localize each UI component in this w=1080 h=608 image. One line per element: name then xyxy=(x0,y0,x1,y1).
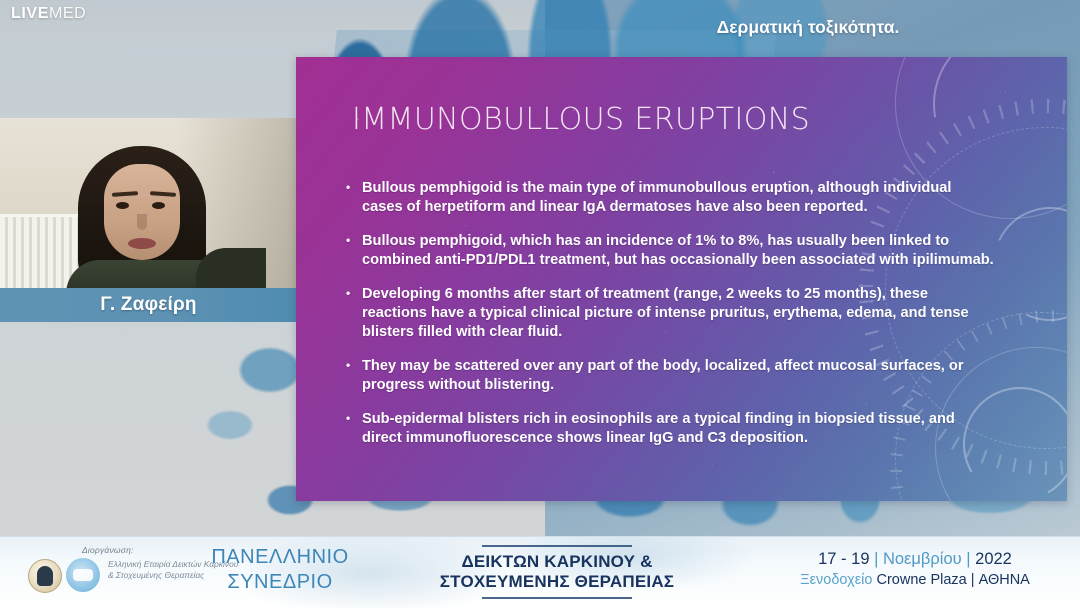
date-days: 17 - 19 xyxy=(818,550,874,568)
presentation-slide[interactable]: IMMUNOBULLOUS ERUPTIONS • Bullous pemphi… xyxy=(296,57,1067,501)
radiator-object xyxy=(0,214,78,290)
university-seal-logo xyxy=(28,559,62,593)
date-separator-1: | xyxy=(874,550,883,568)
list-item: • Bullous pemphigoid, which has an incid… xyxy=(346,232,996,271)
organizer-label: Διοργάνωση: xyxy=(82,545,134,555)
venue-name: Crowne Plaza xyxy=(876,572,970,588)
congress-topic-block: ΔΕΙΚΤΩΝ ΚΑΡΚΙΝΟΥ & ΣΤΟΧΕΥΜΕΝΗΣ ΘΕΡΑΠΕΙΑΣ xyxy=(392,545,722,599)
congress-label-line1: ΠΑΝΕΛΛΗΝΙΟ xyxy=(200,545,360,570)
date-month: Νοεμβρίου xyxy=(883,550,966,568)
livemed-logo-light: MED xyxy=(49,5,86,22)
session-title: Δερματική τοξικότητα. xyxy=(548,17,1068,38)
speaker-nose xyxy=(137,214,147,230)
bullet-text: Bullous pemphigoid is the main type of i… xyxy=(362,179,996,218)
venue-city: ΑΘΗΝΑ xyxy=(979,572,1030,588)
slide-title: IMMUNOBULLOUS ERUPTIONS xyxy=(352,102,810,137)
congress-topic-line1: ΔΕΙΚΤΩΝ ΚΑΡΚΙΝΟΥ & xyxy=(392,552,722,572)
bullet-marker-icon: • xyxy=(346,232,362,271)
bullet-marker-icon: • xyxy=(346,285,362,343)
bullet-marker-icon: • xyxy=(346,179,362,218)
speaker-shoulder xyxy=(196,248,266,290)
venue-separator: | xyxy=(971,572,979,588)
society-circle-logo xyxy=(66,558,100,592)
list-item: • They may be scattered over any part of… xyxy=(346,357,996,396)
livemed-logo: LIVEMED xyxy=(11,5,86,23)
screen-capture: LIVEMED Δερματική τοξικότητα. Γ. Ζαφείρη xyxy=(0,0,1080,608)
date-year: 2022 xyxy=(975,550,1012,568)
bullet-marker-icon: • xyxy=(346,410,362,449)
bullet-marker-icon: • xyxy=(346,357,362,396)
speaker-video[interactable] xyxy=(0,118,297,290)
list-item: • Sub-epidermal blisters rich in eosinop… xyxy=(346,410,996,449)
speaker-eye-right xyxy=(152,202,165,209)
congress-label-line2: ΣΥΝΕΔΡΙΟ xyxy=(200,570,360,595)
congress-date: 17 - 19 | Νοεμβρίου | 2022 xyxy=(760,549,1070,570)
speaker-mouth xyxy=(128,238,156,249)
divider-bottom xyxy=(482,597,632,599)
congress-venue: Ξενοδοχείο Crowne Plaza | ΑΘΗΝΑ xyxy=(760,570,1070,591)
slide-bullet-list: • Bullous pemphigoid is the main type of… xyxy=(346,179,996,462)
bullet-text: Bullous pemphigoid, which has an inciden… xyxy=(362,232,996,271)
livemed-logo-bold: LIVE xyxy=(11,5,49,22)
speaker-eye-left xyxy=(116,202,129,209)
congress-label: ΠΑΝΕΛΛΗΝΙΟ ΣΥΝΕΔΡΙΟ xyxy=(200,545,360,595)
bullet-text: Sub-epidermal blisters rich in eosinophi… xyxy=(362,410,996,449)
speaker-name: Γ. Ζαφείρη xyxy=(100,294,196,316)
venue-prefix: Ξενοδοχείο xyxy=(800,572,876,588)
date-separator-2: | xyxy=(966,550,975,568)
bullet-text: They may be scattered over any part of t… xyxy=(362,357,996,396)
list-item: • Bullous pemphigoid is the main type of… xyxy=(346,179,996,218)
bullet-text: Developing 6 months after start of treat… xyxy=(362,285,996,343)
list-item: • Developing 6 months after start of tre… xyxy=(346,285,996,343)
congress-topic: ΔΕΙΚΤΩΝ ΚΑΡΚΙΝΟΥ & ΣΤΟΧΕΥΜΕΝΗΣ ΘΕΡΑΠΕΙΑΣ xyxy=(392,552,722,593)
congress-date-block: 17 - 19 | Νοεμβρίου | 2022 Ξενοδοχείο Cr… xyxy=(760,549,1070,591)
divider-top xyxy=(482,545,632,547)
speaker-name-bar: Γ. Ζαφείρη xyxy=(0,288,297,322)
congress-topic-line2: ΣΤΟΧΕΥΜΕΝΗΣ ΘΕΡΑΠΕΙΑΣ xyxy=(392,572,722,592)
congress-footer: Διοργάνωση: Ελληνική Εταιρία Δεικτών Καρ… xyxy=(0,536,1080,608)
